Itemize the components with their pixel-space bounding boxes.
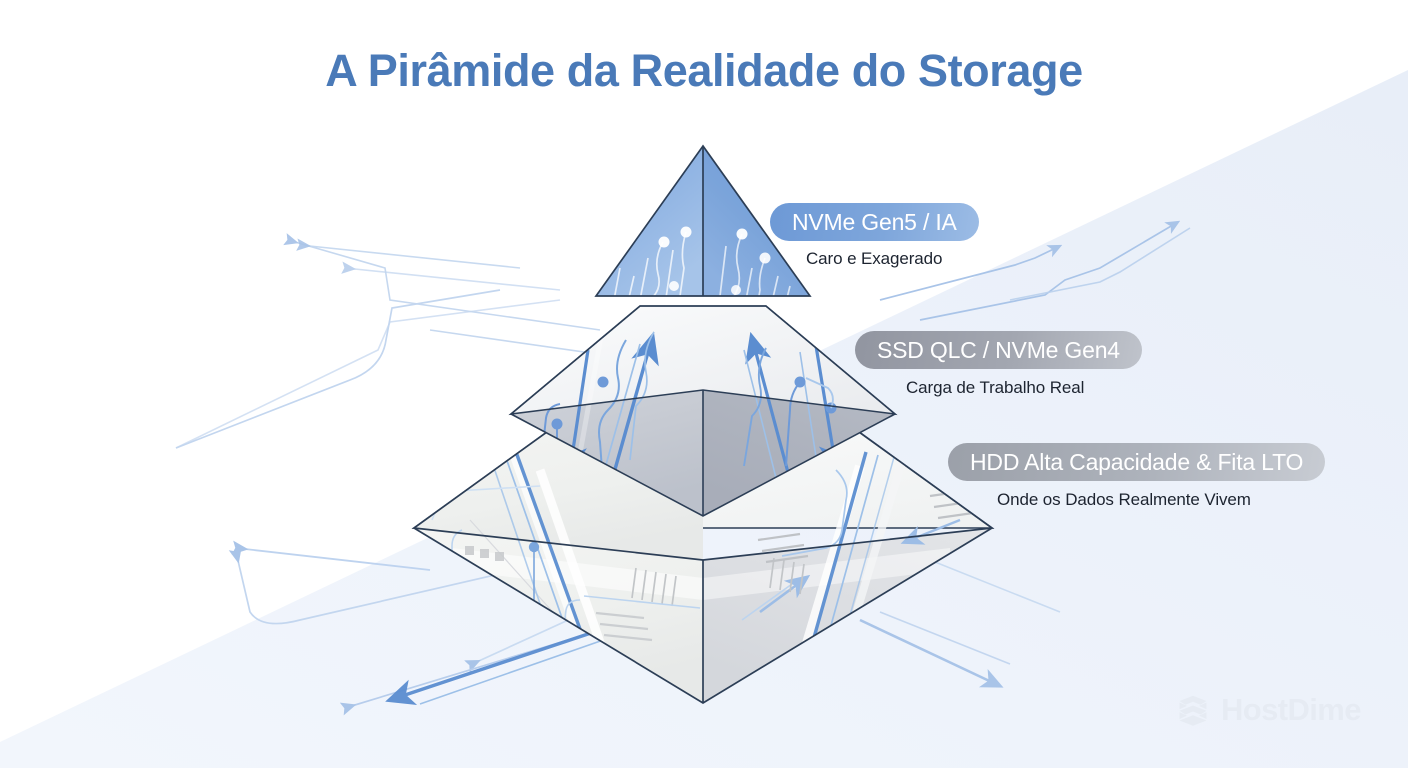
tier-subtitle-ssd-qlc: Carga de Trabalho Real — [906, 378, 1084, 398]
hostdime-stacked-hexagon-icon — [1175, 692, 1211, 728]
tier-subtitle-hdd-lto: Onde os Dados Realmente Vivem — [997, 490, 1251, 510]
infographic-canvas: A Pirâmide da Realidade do Storage NVMe … — [0, 0, 1408, 768]
pyramid-graphic — [0, 0, 1408, 768]
tier-label-pill-hdd-lto[interactable]: HDD Alta Capacidade & Fita LTO — [948, 443, 1325, 481]
page-title: A Pirâmide da Realidade do Storage — [0, 45, 1408, 97]
tier-label-pill-nvme-gen5[interactable]: NVMe Gen5 / IA — [770, 203, 979, 241]
brand-logo-text: HostDime — [1221, 692, 1361, 728]
tier-label-pill-ssd-qlc[interactable]: SSD QLC / NVMe Gen4 — [855, 331, 1142, 369]
brand-logo: HostDime — [1175, 692, 1361, 728]
tier-subtitle-nvme-gen5: Caro e Exagerado — [806, 249, 942, 269]
